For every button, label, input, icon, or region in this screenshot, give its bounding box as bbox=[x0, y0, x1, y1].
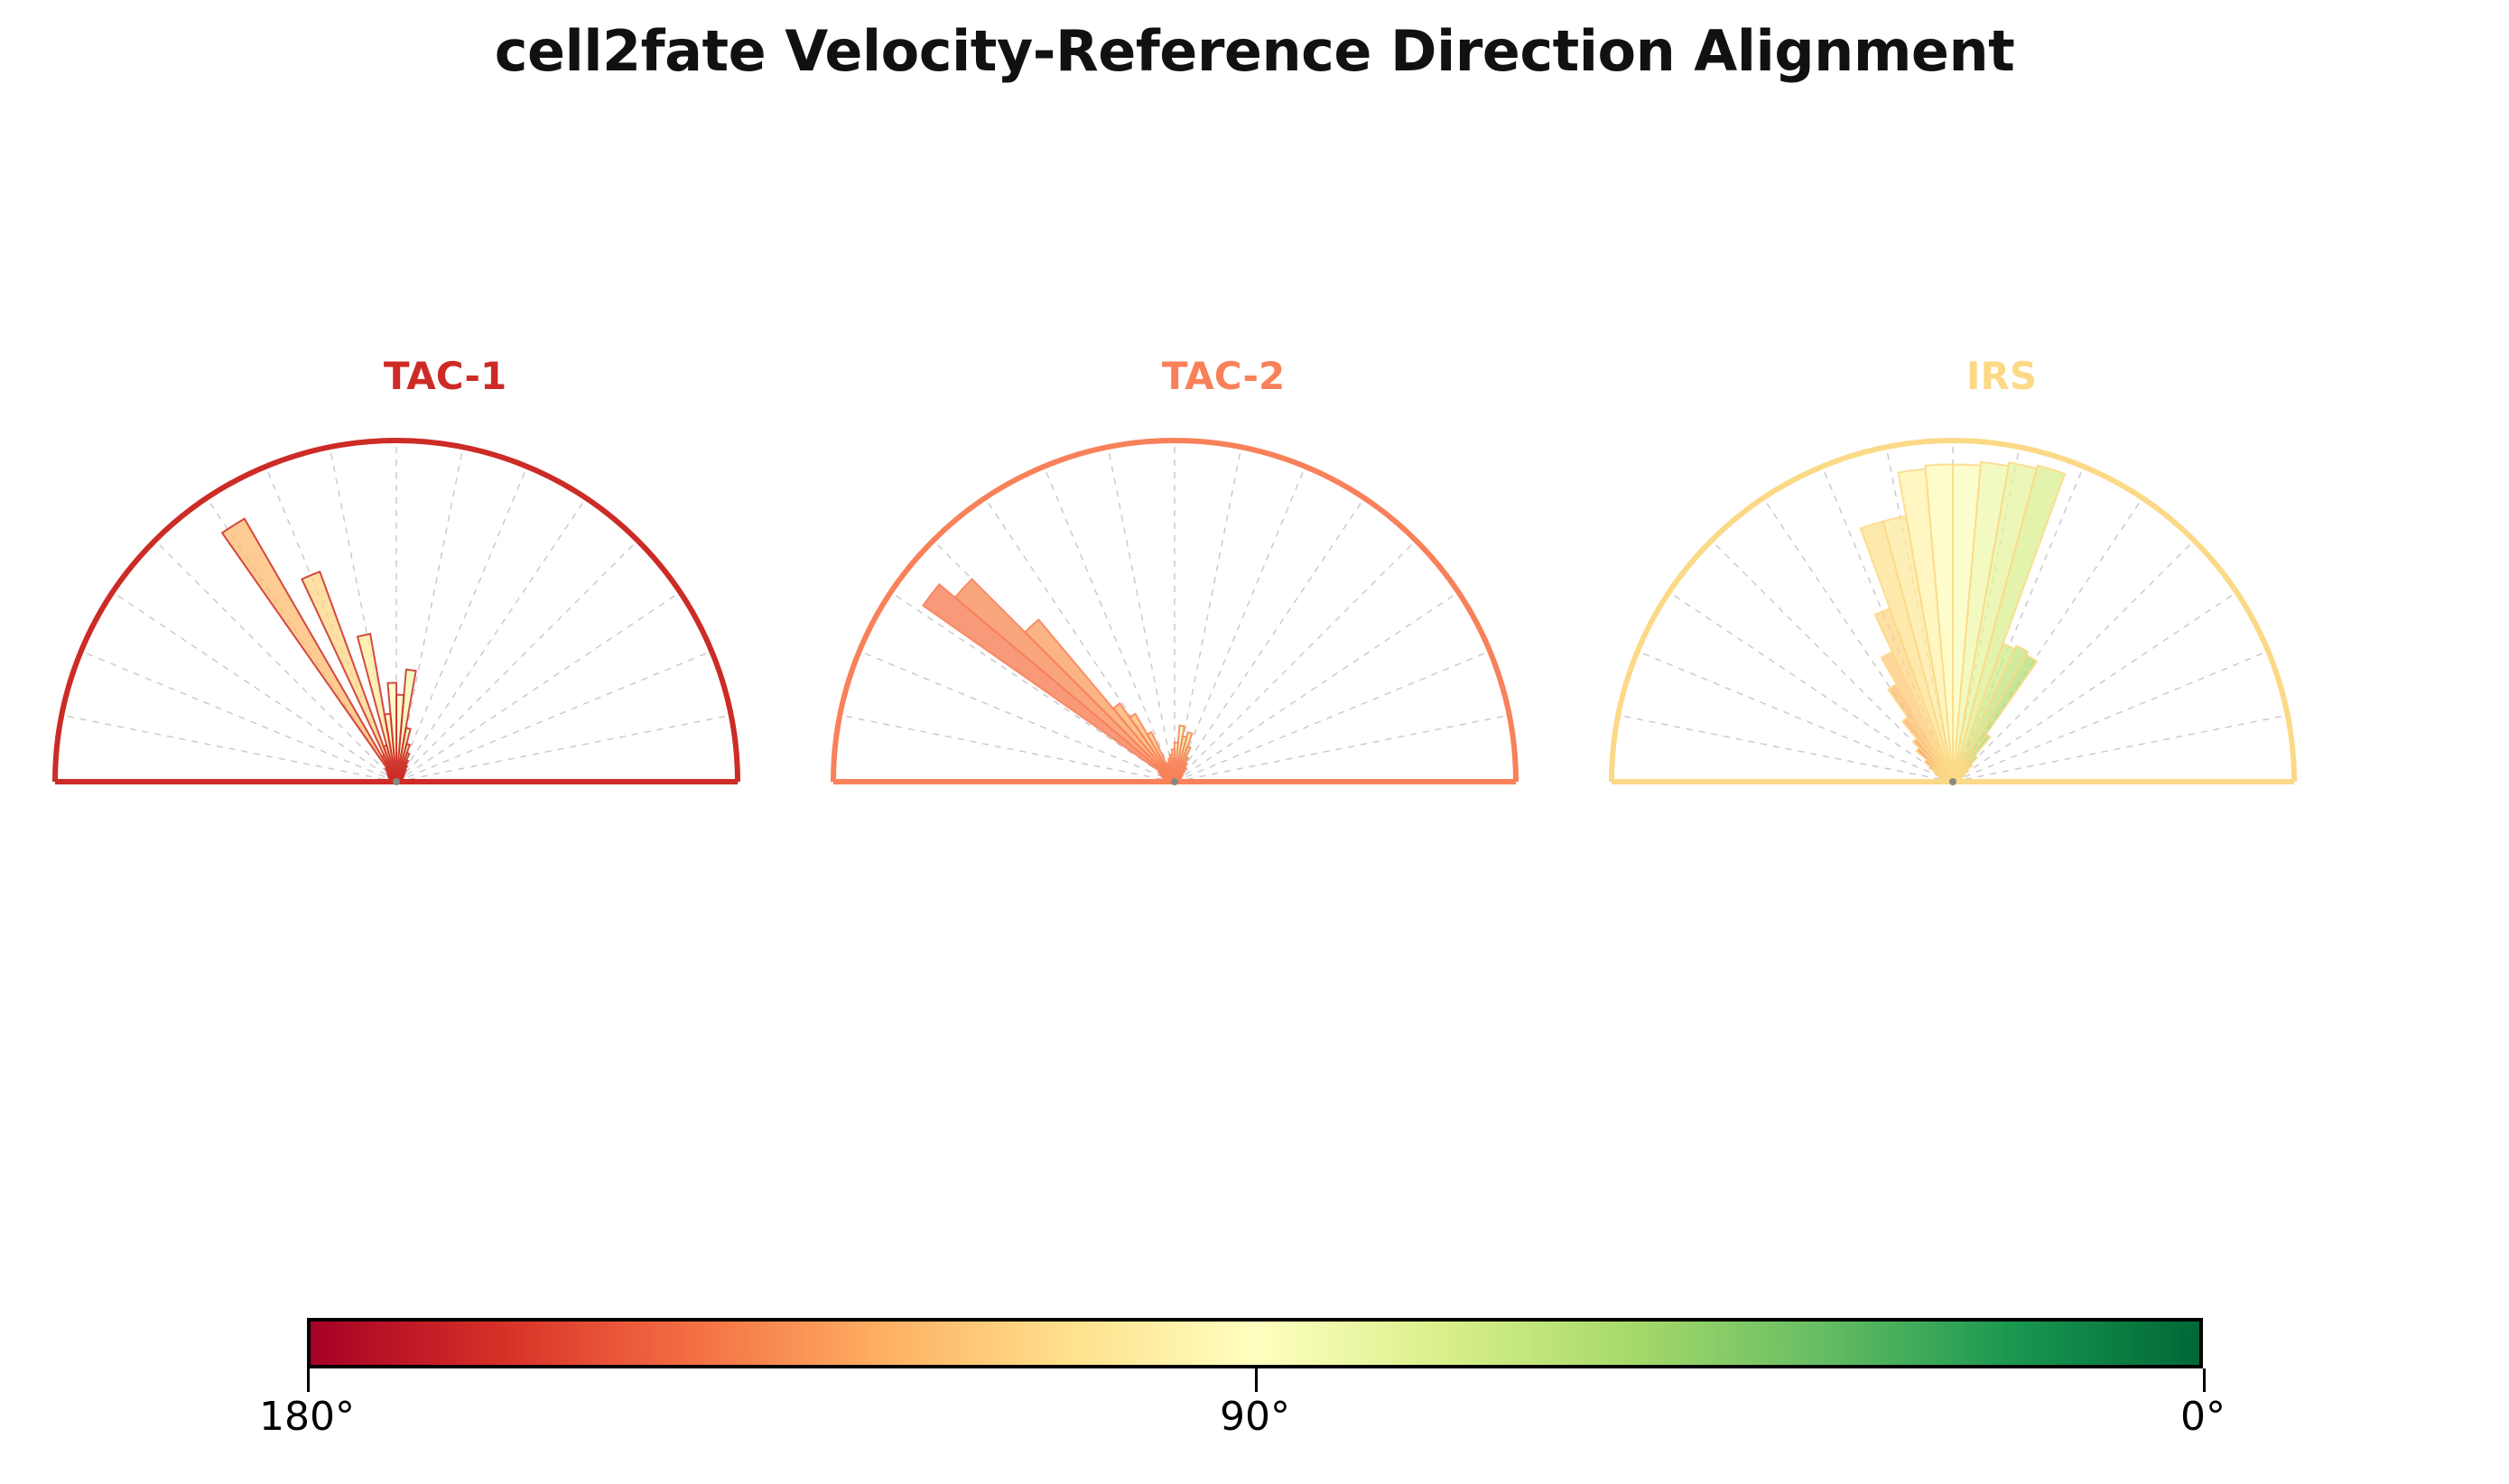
polar-bars bbox=[222, 519, 416, 782]
polar-bar bbox=[1025, 619, 1175, 782]
polar-panel-row: TAC-1TAC-2IRS bbox=[0, 343, 2509, 921]
colorbar-tick-label: 0° bbox=[2180, 1394, 2226, 1440]
grid-ray bbox=[1175, 715, 1510, 782]
colorbar-tick bbox=[2203, 1368, 2206, 1392]
colorbar-tick-label: 90° bbox=[1220, 1394, 1290, 1440]
colorbar-block: 180°90°0° bbox=[0, 1300, 2509, 1462]
polar-panel-irs: IRS bbox=[1595, 343, 2408, 921]
polar-panel-tac-2: TAC-2 bbox=[817, 343, 1630, 921]
grid-ray bbox=[396, 715, 731, 782]
polar-plot bbox=[39, 433, 851, 811]
polar-plot bbox=[1595, 433, 2408, 811]
figure-canvas: cell2fate Velocity-Reference Direction A… bbox=[0, 0, 2509, 1484]
grid-ray bbox=[61, 715, 396, 782]
panel-title: TAC-1 bbox=[39, 354, 851, 398]
colorbar-tick-labels: 180°90°0° bbox=[0, 1394, 2509, 1448]
colorbar-ticks bbox=[307, 1368, 2203, 1392]
colorbar-tick-label: 180° bbox=[259, 1394, 355, 1440]
polar-plot bbox=[817, 433, 1630, 811]
grid-ray bbox=[1175, 467, 1306, 782]
polar-origin-marker bbox=[1949, 778, 1956, 785]
colorbar-gradient bbox=[311, 1322, 2199, 1365]
polar-bar bbox=[955, 579, 1175, 782]
grid-ray bbox=[396, 541, 637, 782]
grid-ray bbox=[1175, 651, 1490, 782]
grid-ray bbox=[1175, 447, 1241, 782]
polar-bar bbox=[923, 584, 1175, 782]
colorbar bbox=[307, 1318, 2203, 1368]
polar-bars bbox=[923, 579, 1192, 782]
polar-bars bbox=[1861, 462, 2065, 782]
colorbar-tick bbox=[307, 1368, 310, 1392]
grid-ray bbox=[1618, 715, 1953, 782]
polar-origin-marker bbox=[393, 778, 400, 785]
panel-title: IRS bbox=[1595, 354, 2408, 398]
panel-title: TAC-2 bbox=[817, 354, 1630, 398]
grid-ray bbox=[1953, 715, 2288, 782]
page-title: cell2fate Velocity-Reference Direction A… bbox=[0, 18, 2509, 84]
grid-ray bbox=[396, 651, 711, 782]
colorbar-tick bbox=[1255, 1368, 1258, 1392]
polar-origin-marker bbox=[1171, 778, 1178, 785]
polar-panel-tac-1: TAC-1 bbox=[39, 343, 851, 921]
grid-ray bbox=[396, 467, 527, 782]
grid-ray bbox=[1175, 541, 1416, 782]
